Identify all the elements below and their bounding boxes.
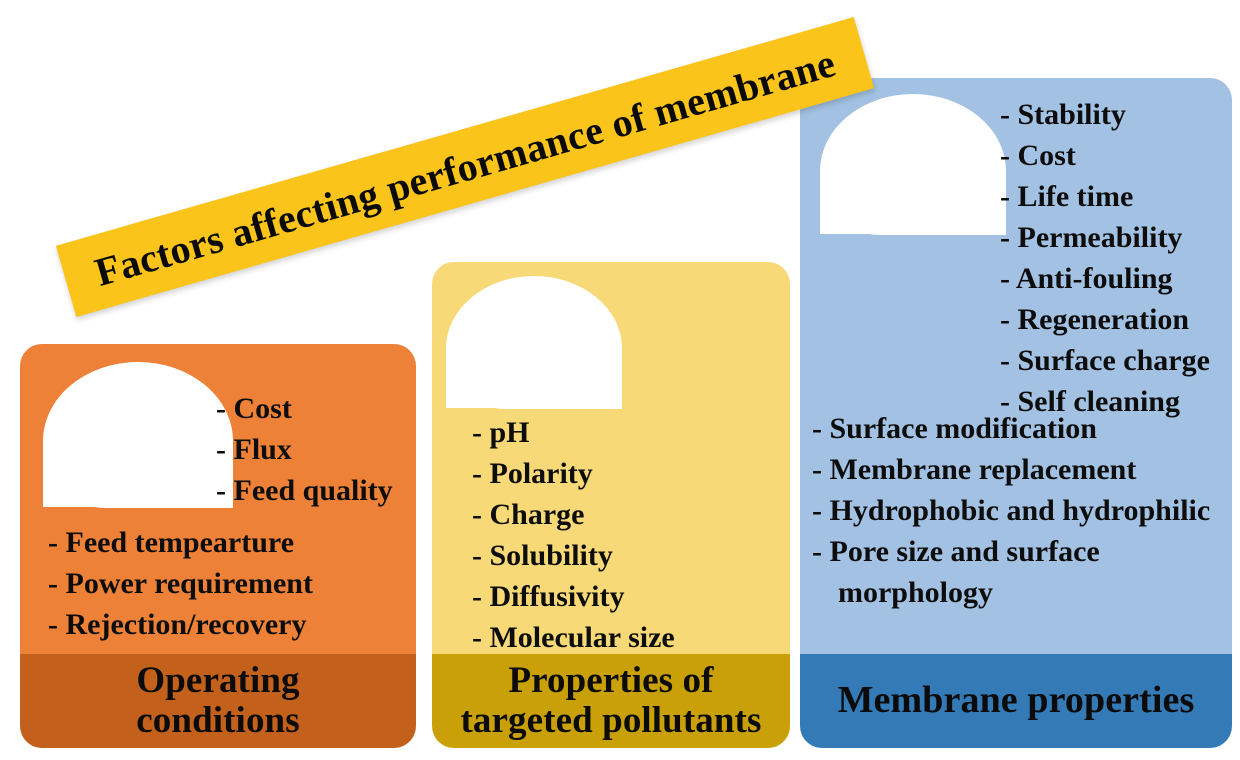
list-item: - pH (472, 412, 675, 453)
list-item: - Cost (1000, 135, 1210, 176)
page-title: Factors affecting performance of membran… (90, 39, 841, 296)
door-hanger-hole-icon (43, 362, 233, 507)
list-item: - Anti-fouling (1000, 258, 1210, 299)
list-item: - Membrane replacement (812, 449, 1210, 490)
operating-bottom-list: - Feed tempearture - Power requirement -… (48, 522, 313, 645)
list-item: - Surface modification (812, 408, 1210, 449)
list-item: - Regeneration (1000, 299, 1210, 340)
door-hanger-hole-icon (820, 94, 1006, 234)
door-hanger-hole-icon (446, 276, 622, 408)
list-item: - Solubility (472, 535, 675, 576)
list-item: - Feed tempearture (48, 522, 313, 563)
list-item: - Pore size and surfacemorphology (812, 531, 1210, 613)
list-item: - Polarity (472, 453, 675, 494)
card-membrane-body: - Stability - Cost - Life time - Permeab… (800, 78, 1232, 654)
membrane-bottom-list: - Surface modification - Membrane replac… (812, 408, 1210, 613)
list-item: - Flux (216, 429, 393, 470)
card-membrane-properties[interactable]: - Stability - Cost - Life time - Permeab… (800, 78, 1232, 748)
list-item: - Stability (1000, 94, 1210, 135)
list-item: - Surface charge (1000, 340, 1210, 381)
list-item: - Diffusivity (472, 576, 675, 617)
list-item: - Molecular size (472, 617, 675, 658)
list-item: - Feed quality (216, 470, 393, 511)
card-pollutants-title: Properties oftargeted pollutants (461, 661, 762, 741)
list-item: - Power requirement (48, 563, 313, 604)
card-pollutants-body: - pH - Polarity - Charge - Solubility - … (432, 262, 790, 654)
card-membrane-footer: Membrane properties (800, 654, 1232, 748)
list-item: - Hydrophobic and hydrophilic (812, 490, 1210, 531)
list-item: - Permeability (1000, 217, 1210, 258)
membrane-top-list: - Stability - Cost - Life time - Permeab… (1000, 94, 1210, 422)
card-pollutants-footer: Properties oftargeted pollutants (432, 654, 790, 748)
card-operating-conditions[interactable]: - Cost - Flux - Feed quality - Feed temp… (20, 344, 416, 748)
card-targeted-pollutants[interactable]: - pH - Polarity - Charge - Solubility - … (432, 262, 790, 748)
list-item: - Rejection/recovery (48, 604, 313, 645)
diagram-canvas: - Cost - Flux - Feed quality - Feed temp… (0, 0, 1240, 760)
card-membrane-title: Membrane properties (838, 680, 1195, 721)
card-operating-title: Operatingconditions (136, 661, 299, 741)
card-operating-footer: Operatingconditions (20, 654, 416, 748)
card-operating-body: - Cost - Flux - Feed quality - Feed temp… (20, 344, 416, 654)
list-item: - Charge (472, 494, 675, 535)
list-item: - Life time (1000, 176, 1210, 217)
operating-top-list: - Cost - Flux - Feed quality (216, 388, 393, 511)
pollutants-list: - pH - Polarity - Charge - Solubility - … (472, 412, 675, 658)
list-item: - Cost (216, 388, 393, 429)
